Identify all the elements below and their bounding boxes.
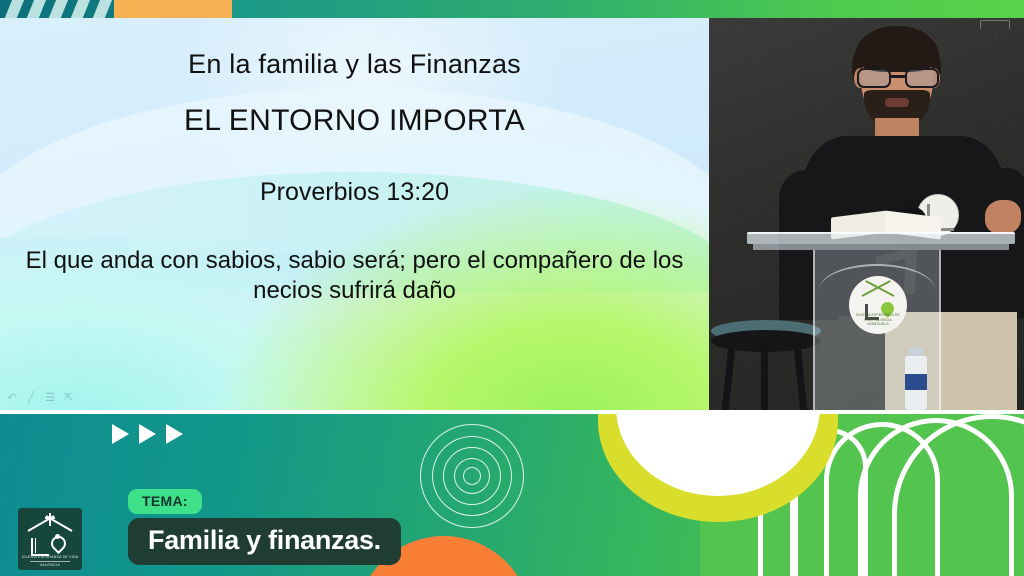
presentation-slide: En la familia y las Finanzas EL ENTORNO … xyxy=(0,18,709,410)
undo-icon[interactable]: ↶ xyxy=(6,392,18,404)
glasses-lens xyxy=(857,68,891,88)
tema-title-box: Familia y finanzas. xyxy=(128,518,401,565)
menu-icon[interactable]: ☰ xyxy=(44,392,56,404)
church-house-logo-icon: IGLESIA ESPERANZA DE VIDA VALENCIA xyxy=(18,508,82,570)
pointer-icon[interactable]: ⇱ xyxy=(63,392,75,404)
play-arrow-icon xyxy=(139,424,156,444)
speaker-mouth xyxy=(885,98,909,107)
presentation-toolbar[interactable]: ↶ ╱ ☰ ⇱ xyxy=(6,392,75,404)
slide-verse-text: El que anda con sabios, sabio será; pero… xyxy=(22,246,687,306)
glasses-lens xyxy=(905,68,939,88)
live-speaker-feed[interactable]: IGLESIA ESPERANZA DE VIDA VALENCIA VENEZ… xyxy=(709,18,1024,410)
play-arrow-icon xyxy=(166,424,183,444)
slide-text-block: En la familia y las Finanzas EL ENTORNO … xyxy=(0,18,709,410)
decorative-top-band xyxy=(0,0,1024,18)
screen: En la familia y las Finanzas EL ENTORNO … xyxy=(0,0,1024,576)
speaker-right-hand xyxy=(985,200,1021,234)
stool-leg xyxy=(761,344,768,410)
lectern-logo-text: IGLESIA ESPERANZA DE VIDA VALENCIA VENEZ… xyxy=(854,313,902,327)
glasses-bridge xyxy=(891,75,905,78)
banner-arrow-group xyxy=(112,424,183,444)
tema-label-badge: TEMA: xyxy=(128,489,202,514)
lectern-church-logo-icon: IGLESIA ESPERANZA DE VIDA VALENCIA VENEZ… xyxy=(849,276,907,334)
play-arrow-icon xyxy=(112,424,129,444)
slide-title-line-2: EL ENTORNO IMPORTA xyxy=(0,104,709,138)
logo-divider xyxy=(30,561,70,562)
slide-scripture-reference: Proverbios 13:20 xyxy=(0,178,709,207)
lectern-top-rail xyxy=(747,232,1015,244)
glasses-icon xyxy=(857,68,939,88)
slide-title-line-1: En la familia y las Finanzas xyxy=(0,49,709,80)
top-band-orange-block xyxy=(114,0,232,18)
ring xyxy=(463,467,481,485)
pen-icon[interactable]: ╱ xyxy=(25,392,37,404)
logo-text-line-1: IGLESIA ESPERANZA DE VIDA xyxy=(20,555,80,559)
water-bottle-label xyxy=(905,374,927,390)
logo-book-page xyxy=(35,538,48,553)
logo-text-line-2: VALENCIA xyxy=(20,563,80,567)
logo-person-head xyxy=(55,534,60,539)
